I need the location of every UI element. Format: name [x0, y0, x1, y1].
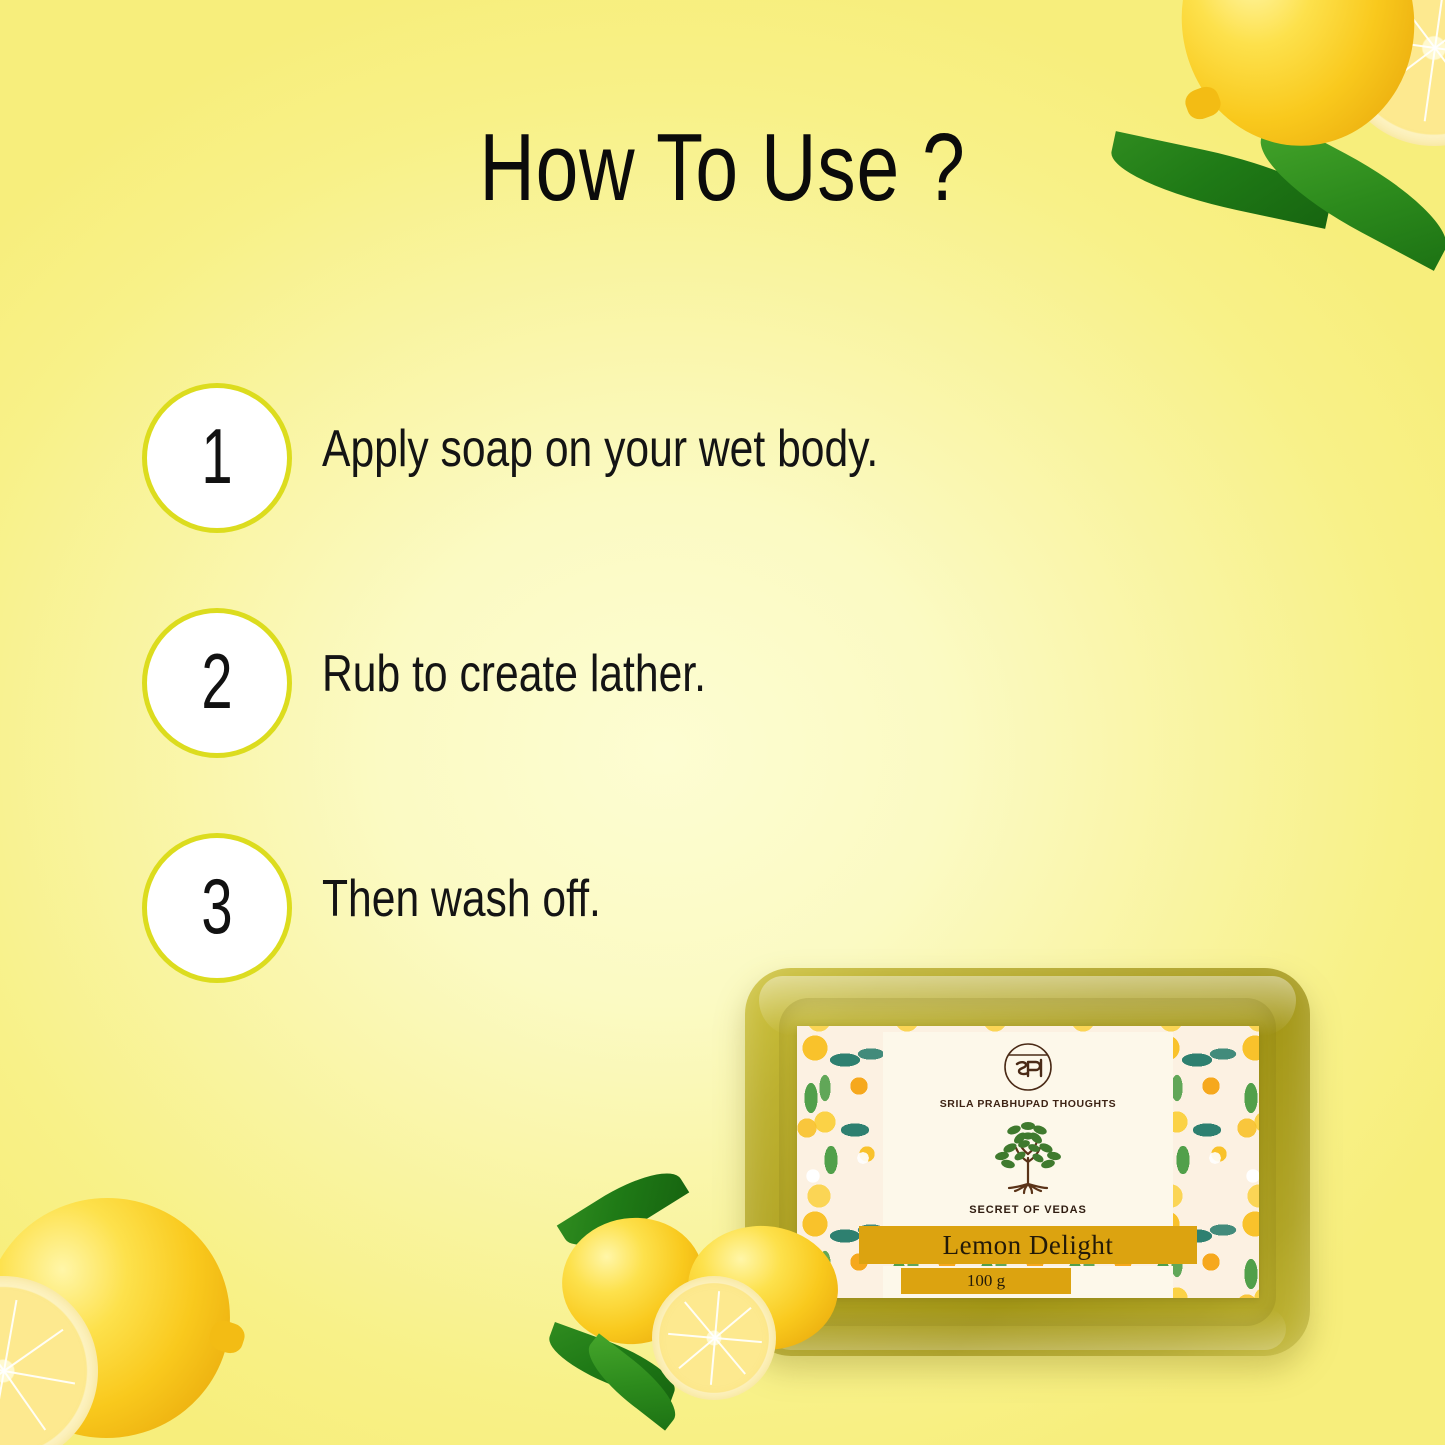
- product-weight: 100 g: [967, 1271, 1005, 1291]
- product-label: SRILA PRABHUPAD THOUGHTS: [797, 1026, 1259, 1298]
- leaf-icon: [577, 1333, 687, 1430]
- step-number-badge: 3: [142, 833, 292, 983]
- soap-bar-product: SRILA PRABHUPAD THOUGHTS: [745, 968, 1310, 1356]
- steps-list: 1 Apply soap on your wet body. 2 Rub to …: [142, 383, 1042, 1058]
- list-item: 2 Rub to create lather.: [142, 608, 1042, 833]
- step-text: Then wash off.: [322, 869, 601, 929]
- lemon-icon: [0, 1186, 242, 1445]
- page-title: How To Use ?: [145, 118, 1301, 219]
- lemon-slice-icon: [1336, 0, 1445, 146]
- poster-canvas: How To Use ? 1 Apply soap on your wet bo…: [0, 0, 1445, 1445]
- step-number: 1: [167, 388, 268, 528]
- spt-logo-icon: [1001, 1040, 1055, 1094]
- step-text: Apply soap on your wet body.: [322, 419, 878, 479]
- step-number: 3: [167, 838, 268, 978]
- step-number: 2: [167, 613, 268, 753]
- step-number-badge: 1: [142, 383, 292, 533]
- step-text: Rub to create lather.: [322, 644, 706, 704]
- list-item: 1 Apply soap on your wet body.: [142, 383, 1042, 608]
- lemon-tip: [1182, 83, 1224, 123]
- leaf-icon: [541, 1322, 682, 1406]
- lemon-icon: [554, 1209, 712, 1354]
- step-number-badge: 2: [142, 608, 292, 758]
- product-name: Lemon Delight: [943, 1230, 1114, 1261]
- product-name-band: Lemon Delight: [859, 1226, 1197, 1264]
- lemon-tip: [206, 1317, 248, 1356]
- product-weight-band: 100 g: [901, 1268, 1071, 1294]
- bottom-left-lemon-decoration: [0, 1192, 270, 1445]
- lemon-slice-icon: [0, 1276, 98, 1445]
- brand-name-bottom: SECRET OF VEDAS: [797, 1204, 1259, 1216]
- tree-logo-icon: [980, 1118, 1076, 1204]
- brand-name-top: SRILA PRABHUPAD THOUGHTS: [797, 1098, 1259, 1110]
- leaf-icon: [557, 1157, 690, 1262]
